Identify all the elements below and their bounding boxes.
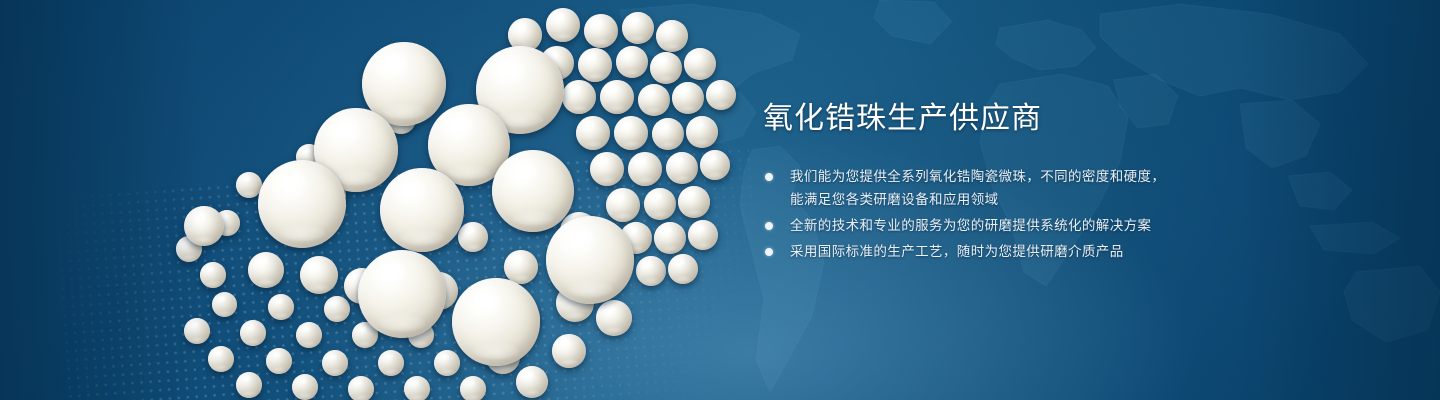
bullet-text-1-line2: 能满足您各类研磨设备和应用领域 bbox=[790, 188, 1323, 211]
bullet-text-3-line1: 采用国际标准的生产工艺，随时为您提供研磨介质产品 bbox=[790, 244, 1124, 259]
banner-headline: 氧化锆珠生产供应商 bbox=[763, 100, 1323, 138]
bullet-dot-icon bbox=[765, 173, 773, 181]
banner-copy: 氧化锆珠生产供应商 我们能为您提供全系列氧化锆陶瓷微珠，不同的密度和硬度， 能满… bbox=[763, 100, 1323, 266]
bullet-dot-icon bbox=[765, 222, 773, 230]
bullet-text-1-line1: 我们能为您提供全系列氧化锆陶瓷微珠，不同的密度和硬度， bbox=[790, 169, 1165, 184]
bullet-item-1: 我们能为您提供全系列氧化锆陶瓷微珠，不同的密度和硬度， 能满足您各类研磨设备和应… bbox=[763, 165, 1323, 211]
banner-bullet-list: 我们能为您提供全系列氧化锆陶瓷微珠，不同的密度和硬度， 能满足您各类研磨设备和应… bbox=[763, 165, 1323, 263]
bullet-item-2: 全新的技术和专业的服务为您的研磨提供系统化的解决方案 bbox=[763, 214, 1323, 237]
hero-banner: 氧化锆珠生产供应商 我们能为您提供全系列氧化锆陶瓷微珠，不同的密度和硬度， 能满… bbox=[0, 0, 1440, 400]
bullet-item-3: 采用国际标准的生产工艺，随时为您提供研磨介质产品 bbox=[763, 240, 1323, 263]
bullet-dot-icon bbox=[765, 248, 773, 256]
bullet-text-2-line1: 全新的技术和专业的服务为您的研磨提供系统化的解决方案 bbox=[790, 218, 1151, 233]
